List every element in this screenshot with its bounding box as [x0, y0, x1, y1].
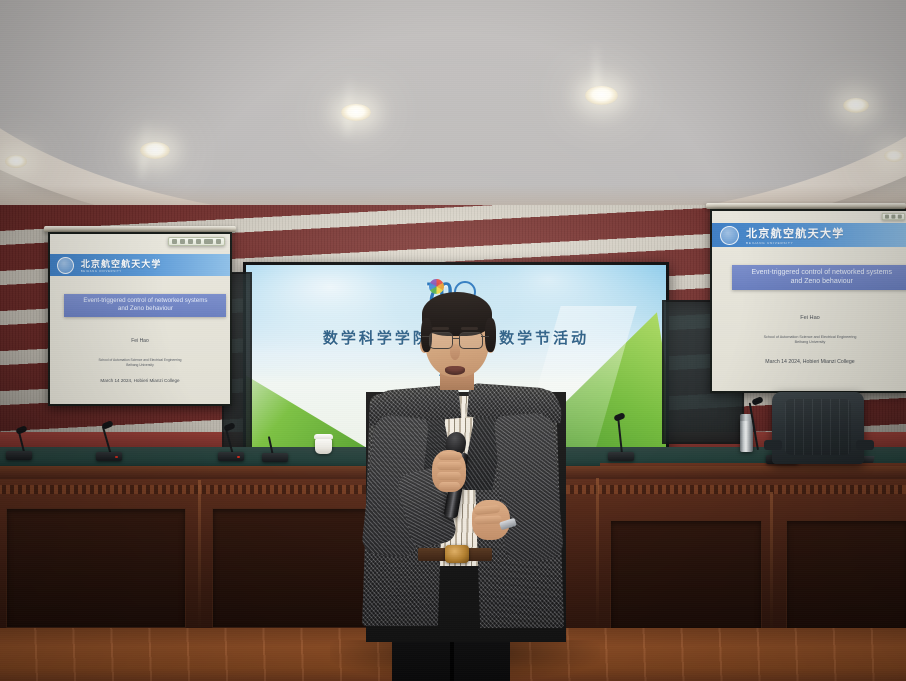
hand-finger: [474, 515, 502, 524]
hand-finger: [437, 472, 461, 480]
speaker-figure: [0, 0, 906, 681]
hand-finger: [437, 462, 462, 470]
speaker-eyebrow-right: [461, 327, 478, 330]
speaker-eyebrow-left: [432, 327, 449, 330]
eyeglasses-bridge: [452, 338, 459, 339]
eyeglasses-temple-left: [422, 336, 430, 337]
speaker-mouth: [445, 366, 465, 375]
hand-finger: [439, 482, 460, 490]
lecture-hall-photo: 70 数学科学学院 数学节活动 2024 北京航空航天大学 BE: [0, 0, 906, 681]
hand-finger: [438, 452, 462, 460]
eyeglasses-lens-left: [429, 332, 453, 349]
eyeglasses-temple-right: [481, 336, 489, 337]
belt-buckle: [445, 545, 469, 563]
speaker-nose: [450, 344, 460, 360]
eyeglasses-lens-right: [459, 332, 483, 349]
speaker-hair-side-right: [485, 318, 496, 352]
